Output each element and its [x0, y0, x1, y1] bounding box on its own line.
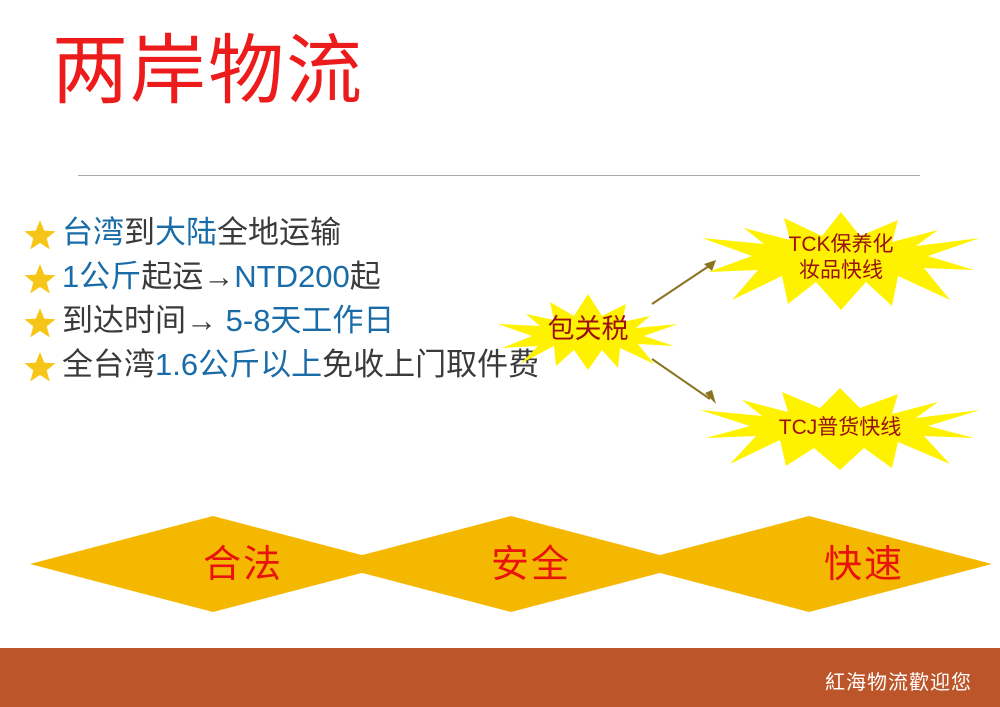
list-item-segment: 起: [350, 259, 381, 294]
page-title: 两岸物流: [52, 34, 364, 110]
benefit-label: 快速: [716, 544, 1000, 586]
title-divider: [78, 175, 920, 176]
list-item-label: 台湾到大陆全地运输: [62, 214, 341, 252]
list-item-segment: 全台湾: [62, 347, 155, 382]
list-item-segment: 5-8天工作日: [226, 303, 395, 338]
list-item-segment: 大陆: [155, 215, 217, 250]
benefit-diamond: 快速: [626, 516, 992, 612]
callout-tck: TCK保养化 妆品快线: [702, 212, 980, 310]
list-item-segment: 起运→: [141, 259, 234, 294]
list-item: 1公斤起运→NTD200起: [24, 258, 584, 296]
star-icon: [24, 218, 56, 252]
footer-bar: 紅海物流歡迎您: [0, 648, 1000, 707]
list-item-segment: 1.6公斤以上: [155, 347, 322, 382]
list-item-segment: 1公斤: [62, 259, 141, 294]
benefits-row: 合法 安全 快速: [0, 516, 1000, 612]
callout-tcj: TCJ普货快线: [700, 388, 980, 470]
list-item: 台湾到大陆全地运输: [24, 214, 584, 252]
star-icon: [24, 262, 56, 296]
callout-tax: 包关税: [498, 294, 678, 370]
list-item-segment: 到达时间→: [62, 303, 226, 338]
list-item-label: 1公斤起运→NTD200起: [62, 258, 381, 296]
slide-canvas: 两岸物流 台湾到大陆全地运输 1公斤起运→NTD200起 到达时间→ 5-8天工…: [0, 0, 1000, 707]
list-item-label: 全台湾1.6公斤以上免收上门取件费: [62, 346, 554, 384]
footer-text: 紅海物流歡迎您: [825, 666, 972, 695]
list-item-segment: 到: [124, 215, 155, 250]
list-item-segment: 台湾: [62, 215, 124, 250]
list-item-segment: NTD200: [234, 259, 349, 294]
star-icon: [24, 306, 56, 340]
star-icon: [24, 350, 56, 384]
list-item-segment: 全地运输: [217, 215, 341, 250]
list-item-label: 到达时间→ 5-8天工作日: [62, 302, 394, 340]
